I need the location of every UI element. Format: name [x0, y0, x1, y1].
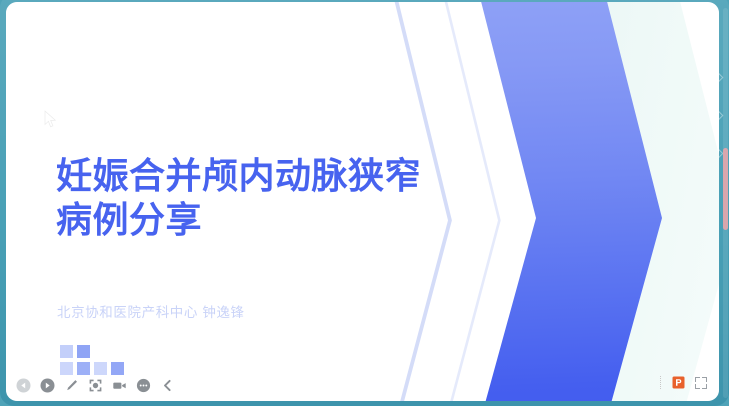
focus-frame-icon [88, 378, 103, 393]
vertical-scrollbar-thumb[interactable] [723, 148, 728, 230]
record-button[interactable] [112, 378, 127, 393]
pencil-icon [64, 378, 79, 393]
fullscreen-corner-br [702, 384, 707, 389]
slide-title-line-1: 妊娠合并颅内动脉狭窄 [56, 154, 486, 198]
more-options-button[interactable] [136, 378, 151, 393]
presentation-viewer: 妊娠合并颅内动脉狭窄 病例分享 北京协和医院产科中心 钟逸锋 [0, 0, 729, 406]
collapse-toolbar-button[interactable] [160, 378, 175, 393]
fullscreen-corner-tr [702, 377, 707, 382]
spotlight-button[interactable] [88, 378, 103, 393]
more-dots-icon [136, 378, 151, 393]
circle-arrow-left-icon [16, 378, 31, 393]
annotate-button[interactable] [64, 378, 79, 393]
slide-title-line-2: 病例分享 [56, 198, 486, 242]
play-button[interactable] [40, 378, 55, 393]
mouse-cursor [44, 110, 57, 128]
slide-canvas[interactable]: 妊娠合并颅内动脉狭窄 病例分享 北京协和医院产科中心 钟逸锋 [6, 2, 719, 401]
circle-play-icon [40, 378, 55, 393]
fullscreen-corner-bl [695, 384, 700, 389]
fullscreen-corner-tl [695, 377, 700, 382]
fullscreen-icon[interactable] [695, 377, 707, 389]
square-r1c1 [60, 345, 73, 358]
square-r1c2 [77, 345, 90, 358]
slide-title: 妊娠合并颅内动脉狭窄 病例分享 [56, 154, 486, 242]
powerpoint-logo-icon[interactable] [672, 376, 685, 389]
corner-controls [660, 376, 707, 389]
video-camera-icon [112, 378, 127, 393]
previous-slide-button[interactable] [16, 378, 31, 393]
slide-subtitle: 北京协和医院产科中心 钟逸锋 [57, 301, 245, 321]
chevron-left-icon [160, 378, 175, 393]
playback-toolbar[interactable] [10, 373, 181, 397]
corner-separator [660, 376, 662, 389]
